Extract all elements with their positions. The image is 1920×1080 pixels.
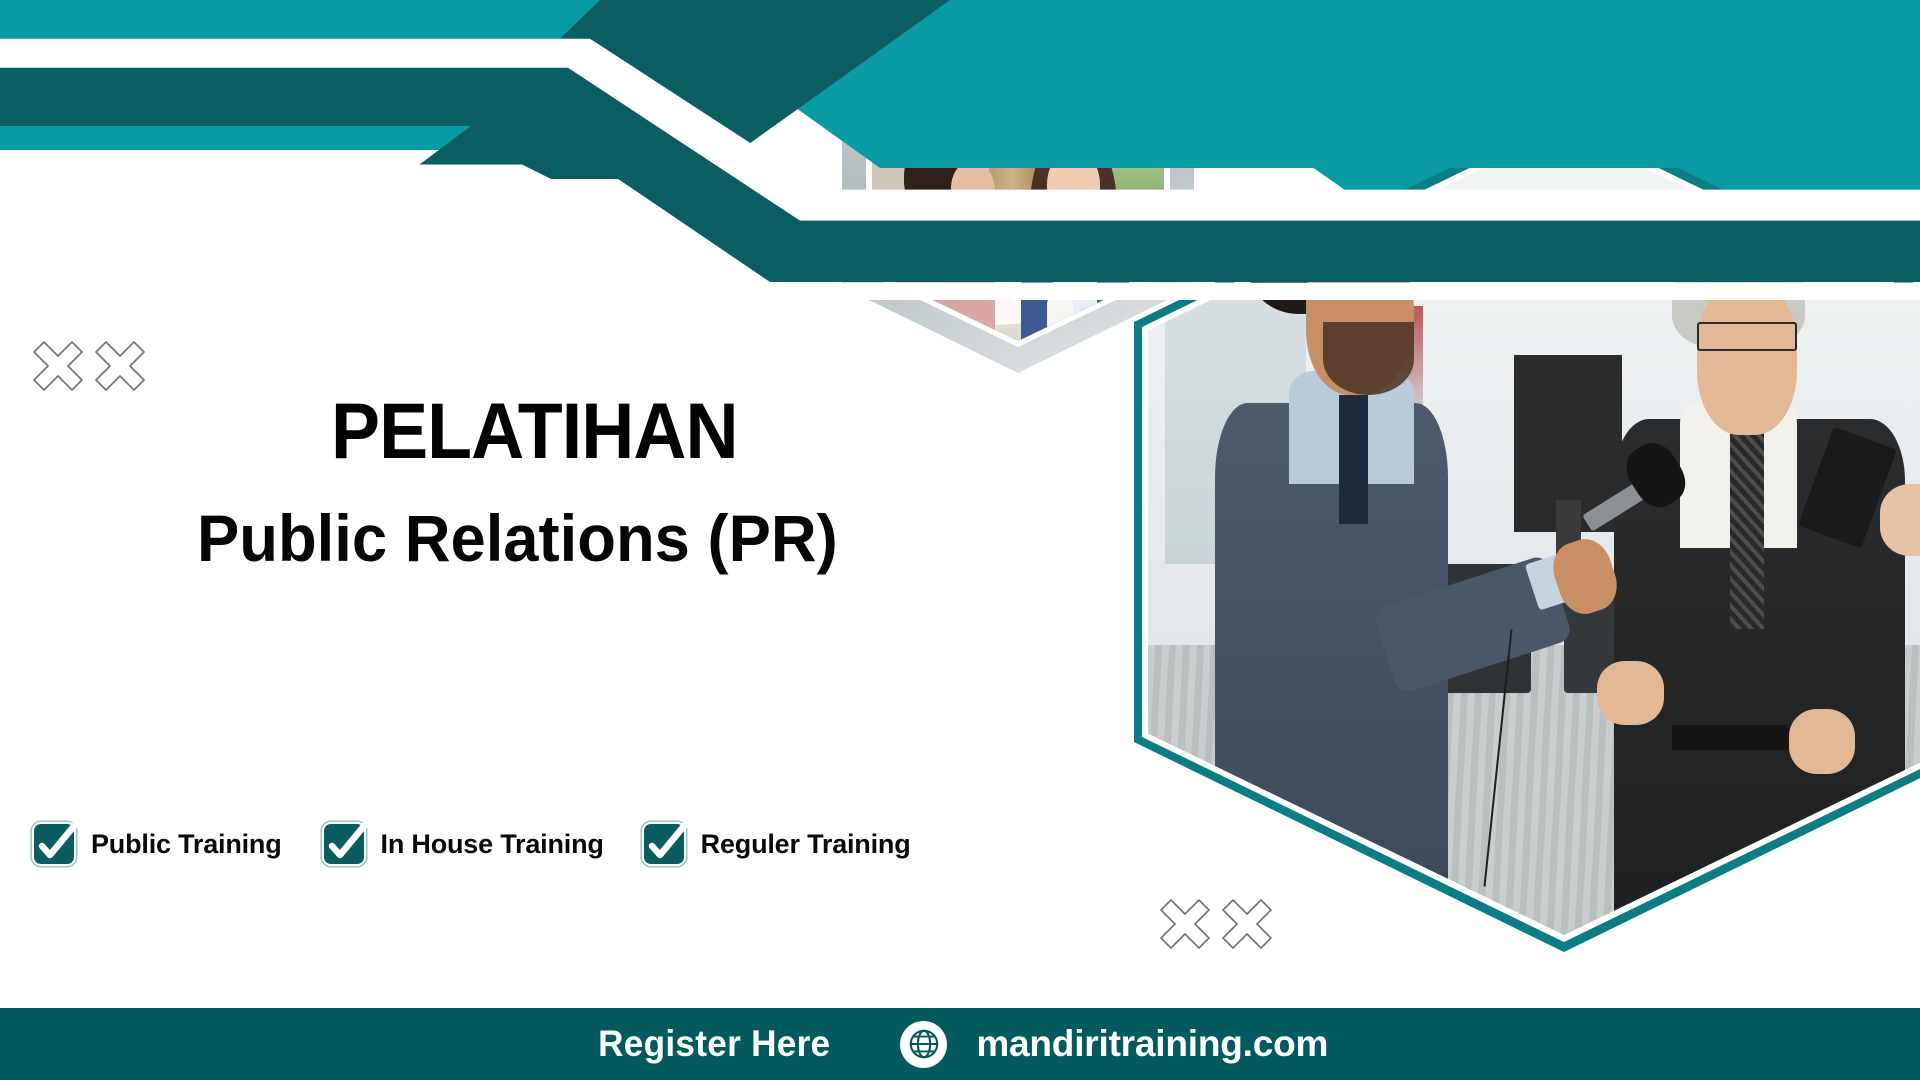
- cross-pair-right: [1155, 896, 1285, 966]
- checkbox-checked-icon[interactable]: [322, 822, 366, 866]
- globe-icon: [900, 1021, 947, 1068]
- checkbox-checked-icon[interactable]: [642, 822, 686, 866]
- footer-content: Register Here mandiritraining.com: [592, 1021, 1328, 1068]
- cross-pair-left: [28, 338, 158, 408]
- page-title: Public Relations (PR): [197, 505, 838, 571]
- footer-bar: Register Here mandiritraining.com: [0, 1008, 1920, 1080]
- training-option-in-house[interactable]: In House Training: [322, 822, 604, 866]
- hexagon-photo-press-interview: [1148, 129, 1920, 935]
- page-eyebrow: PELATIHAN: [331, 391, 738, 470]
- training-option-reguler[interactable]: Reguler Training: [642, 822, 911, 866]
- register-cta-label[interactable]: Register Here: [598, 1023, 830, 1065]
- checkbox-checked-icon[interactable]: [32, 822, 76, 866]
- training-option-public[interactable]: Public Training: [32, 822, 282, 866]
- website-url[interactable]: mandiritraining.com: [976, 1023, 1328, 1065]
- poster-root: PELATIHAN Public Relations (PR) Public T…: [0, 0, 1920, 1080]
- training-option-label: Reguler Training: [701, 829, 911, 860]
- training-option-label: Public Training: [91, 829, 282, 860]
- training-option-label: In House Training: [381, 829, 604, 860]
- training-options-list: Public Training In House Training Regule…: [32, 822, 911, 866]
